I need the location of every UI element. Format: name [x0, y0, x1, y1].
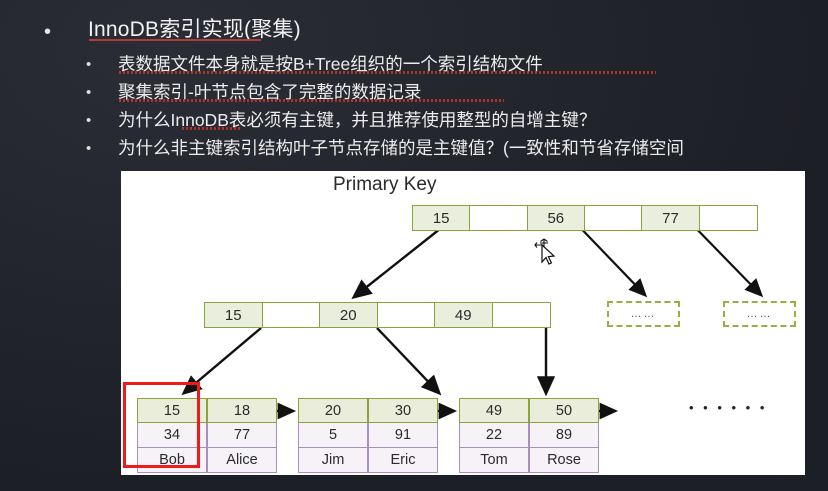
- internal-index-cell-5[interactable]: [493, 303, 551, 327]
- leaf-2-column-1[interactable]: 205Jim: [298, 398, 368, 473]
- bullet-marker-1: •: [86, 57, 91, 72]
- leaf-3-cell-2-2[interactable]: 89: [529, 423, 599, 448]
- internal-index-cell-4[interactable]: 49: [435, 303, 493, 327]
- placeholder-node-1[interactable]: ……: [607, 301, 680, 327]
- bullet-text-4: 为什么非主键索引结构叶子节点存储的是主键值？(一致性和节省存储空间: [118, 135, 684, 160]
- root-index-cell-2[interactable]: 56: [528, 206, 585, 230]
- leaf-2-cell-2-1[interactable]: 30: [368, 398, 438, 423]
- leaf-3-cell-2-3[interactable]: Rose: [529, 448, 599, 473]
- leaf-3-column-2[interactable]: 5089Rose: [529, 398, 599, 473]
- leaf-3-cell-1-1[interactable]: 49: [459, 398, 529, 423]
- leaf-3-cell-1-2[interactable]: 22: [459, 423, 529, 448]
- spellcheck-underline-2: [119, 99, 504, 102]
- leaf-node-2[interactable]: 205Jim3091Eric: [298, 398, 438, 473]
- leaf-3-column-1[interactable]: 4922Tom: [459, 398, 529, 473]
- leaf-node-3[interactable]: 4922Tom5089Rose: [459, 398, 599, 473]
- leaf-2-cell-2-3[interactable]: Eric: [368, 448, 438, 473]
- root-index-cell-0-value: 15: [433, 210, 450, 227]
- root-index-cell-3[interactable]: [585, 206, 642, 230]
- slide-canvas: • InnoDB索引实现(聚集) • 表数据文件本身就是按B+Tree组织的一个…: [0, 0, 828, 491]
- internal-index-cell-1[interactable]: [263, 303, 321, 327]
- bullet-marker-2: •: [86, 85, 91, 100]
- internal-index-node[interactable]: 152049: [204, 302, 551, 328]
- leaf-2-cell-1-2[interactable]: 5: [298, 423, 368, 448]
- internal-index-cell-0-value: 15: [225, 307, 242, 324]
- bullet-marker-4: •: [86, 141, 91, 156]
- leaf-1-cell-2-1[interactable]: 18: [207, 398, 277, 423]
- internal-index-cell-3[interactable]: [378, 303, 436, 327]
- placeholder-node-1-label: ……: [631, 308, 657, 320]
- leaf-1-cell-2-3[interactable]: Alice: [207, 448, 277, 473]
- root-index-cell-0[interactable]: 15: [413, 206, 470, 230]
- root-index-node[interactable]: 155677: [412, 205, 758, 231]
- placeholder-node-2-label: ……: [747, 308, 773, 320]
- internal-index-cell-2[interactable]: 20: [320, 303, 378, 327]
- placeholder-node-2[interactable]: ……: [723, 301, 796, 327]
- root-index-cell-1[interactable]: [470, 206, 527, 230]
- heading-bullet-marker: •: [44, 22, 51, 42]
- record-highlight-box: [123, 382, 200, 468]
- leaf-1-cell-2-2[interactable]: 77: [207, 423, 277, 448]
- diagram-title: Primary Key: [333, 174, 436, 196]
- root-index-cell-2-value: 56: [547, 210, 564, 227]
- root-index-cell-5[interactable]: [700, 206, 757, 230]
- leaf-2-cell-1-3[interactable]: Jim: [298, 448, 368, 473]
- bullet-marker-3: •: [86, 113, 91, 128]
- leaf-3-cell-2-1[interactable]: 50: [529, 398, 599, 423]
- internal-index-cell-0[interactable]: 15: [205, 303, 263, 327]
- leaf-continuation-dots: • • • • • •: [689, 400, 767, 415]
- spellcheck-underline-3: [182, 127, 242, 130]
- root-index-cell-4[interactable]: 77: [642, 206, 699, 230]
- heading-underline: [89, 39, 261, 41]
- leaf-2-cell-1-1[interactable]: 20: [298, 398, 368, 423]
- leaf-2-column-2[interactable]: 3091Eric: [368, 398, 438, 473]
- spellcheck-underline-1: [119, 71, 656, 74]
- leaf-1-column-2[interactable]: 1877Alice: [207, 398, 277, 473]
- leaf-3-cell-1-3[interactable]: Tom: [459, 448, 529, 473]
- root-index-cell-4-value: 77: [662, 210, 679, 227]
- btree-diagram-panel: Primary Key 155677 152049 …… …… 1534Bob1…: [121, 171, 805, 475]
- internal-index-cell-4-value: 49: [455, 307, 472, 324]
- leaf-2-cell-2-2[interactable]: 91: [368, 423, 438, 448]
- internal-index-cell-2-value: 20: [340, 307, 357, 324]
